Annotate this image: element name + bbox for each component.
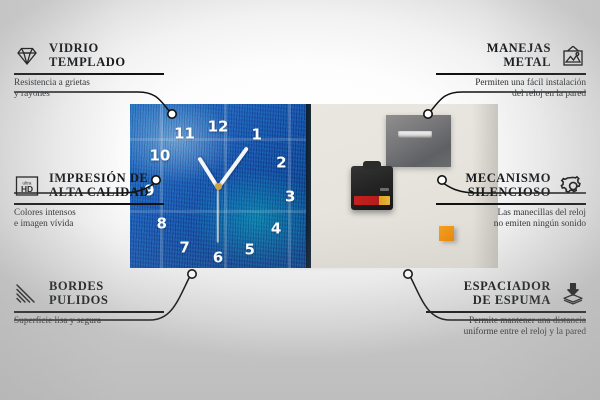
feature-impresion-alta-calidad: ultra HD IMPRESIÓN DE ALTA CALIDAD Color… bbox=[14, 172, 164, 230]
feature-title: DE ESPUMA bbox=[464, 294, 551, 308]
feature-title: TEMPLADO bbox=[49, 56, 126, 70]
feature-description: Permite mantener una distancia uniforme … bbox=[426, 316, 586, 339]
divider bbox=[14, 73, 164, 74]
hanger-slot bbox=[398, 131, 432, 138]
clock-numeral: 6 bbox=[213, 251, 223, 266]
divider bbox=[426, 311, 586, 312]
feature-title: ALTA CALIDAD bbox=[49, 186, 149, 200]
feature-description: Las manecillas del reloj no emiten ningú… bbox=[436, 208, 586, 231]
picture-hanger-icon bbox=[560, 44, 586, 68]
clock-numeral: 3 bbox=[285, 190, 295, 205]
minute-hand bbox=[216, 146, 249, 189]
feature-title: METAL bbox=[487, 56, 551, 70]
metal-hanger-plate bbox=[386, 115, 451, 167]
second-hand bbox=[217, 187, 219, 243]
feature-title: MANEJAS bbox=[487, 42, 551, 56]
feature-title: BORDES bbox=[49, 280, 108, 294]
clock-numeral: 5 bbox=[244, 242, 254, 257]
gear-icon bbox=[560, 174, 586, 198]
divider bbox=[14, 203, 164, 204]
clock-numeral: 2 bbox=[276, 156, 286, 171]
infographic-canvas: 12 1 2 3 4 5 6 7 8 9 10 11 bbox=[0, 0, 600, 400]
feature-title: ESPACIADOR bbox=[464, 280, 551, 294]
quartz-movement bbox=[351, 166, 393, 210]
feature-title: IMPRESIÓN DE bbox=[49, 172, 149, 186]
movement-detail bbox=[380, 188, 389, 191]
diamond-icon bbox=[14, 44, 40, 68]
feature-title: PULIDOS bbox=[49, 294, 108, 308]
divider bbox=[436, 73, 586, 74]
svg-text:HD: HD bbox=[21, 184, 33, 194]
feature-mecanismo-silencioso: MECANISMO SILENCIOSO Las manecillas del … bbox=[436, 172, 586, 230]
clock-numeral: 12 bbox=[208, 119, 229, 134]
feature-espaciador-espuma: ESPACIADOR DE ESPUMA Permite mantener un… bbox=[426, 280, 586, 338]
polished-edges-icon bbox=[14, 282, 40, 306]
hour-hand bbox=[197, 156, 219, 189]
feature-manejas-metal: MANEJAS METAL Permiten una fácil instala… bbox=[436, 42, 586, 100]
foam-spacer-icon bbox=[560, 282, 586, 306]
clock-center-cap bbox=[215, 183, 222, 190]
clock-numeral: 4 bbox=[271, 221, 281, 236]
feature-description: Permiten una fácil instalación del reloj… bbox=[436, 78, 586, 101]
ultra-hd-icon: ultra HD bbox=[14, 174, 40, 198]
feature-description: Resistencia a grietas y rayones bbox=[14, 78, 164, 101]
movement-shaft bbox=[363, 161, 381, 169]
clock-numeral: 11 bbox=[174, 126, 195, 141]
feature-title: MECANISMO bbox=[465, 172, 551, 186]
battery bbox=[354, 196, 390, 205]
feature-vidrio-templado: VIDRIO TEMPLADO Resistencia a grietas y … bbox=[14, 42, 164, 100]
feature-title: VIDRIO bbox=[49, 42, 126, 56]
clock-numeral: 7 bbox=[179, 241, 189, 256]
feature-title: SILENCIOSO bbox=[465, 186, 551, 200]
clock-numeral: 10 bbox=[149, 149, 170, 164]
feature-description: Superficie lisa y segura bbox=[14, 316, 164, 327]
feature-description: Colores intensos e imagen vívida bbox=[14, 208, 164, 231]
feature-bordes-pulidos: BORDES PULIDOS Superficie lisa y segura bbox=[14, 280, 164, 327]
divider bbox=[436, 203, 586, 204]
clock-numeral: 1 bbox=[252, 128, 262, 143]
divider bbox=[14, 311, 164, 312]
